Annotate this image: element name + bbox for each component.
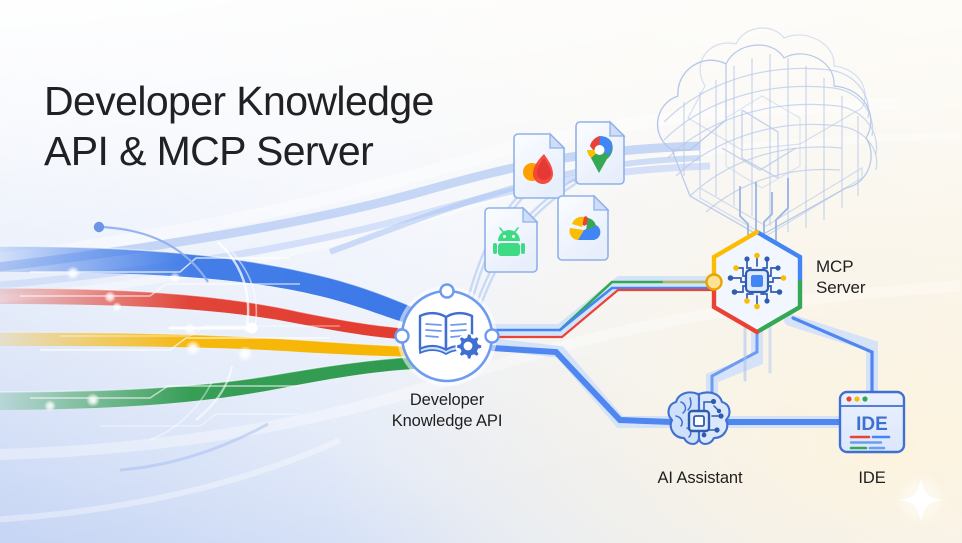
doc-card-google-cloud[interactable] <box>558 196 608 260</box>
label-ide: IDE <box>842 468 902 489</box>
label-developer-knowledge-api: Developer Knowledge API <box>372 390 522 431</box>
page-title: Developer Knowledge API & MCP Server <box>44 76 434 176</box>
illustration-canvas: IDE Developer Knowledge API & MCP Server… <box>0 0 962 543</box>
hex-port-left <box>707 275 722 290</box>
label-mcp-server: MCP Server <box>816 256 865 299</box>
node-ide[interactable]: IDE <box>840 392 904 452</box>
doc-card-android[interactable] <box>485 208 537 272</box>
four-point-sparkle-icon <box>895 474 947 526</box>
label-ai-assistant: AI Assistant <box>640 468 760 489</box>
window-controls <box>846 396 867 401</box>
brain-circuit-icon <box>669 392 730 444</box>
node-port-left <box>396 330 409 343</box>
doc-card-firebase[interactable] <box>514 134 564 198</box>
doc-card-google-maps[interactable] <box>576 122 624 184</box>
ide-screen-text: IDE <box>856 414 888 435</box>
node-port-right <box>486 330 499 343</box>
node-port-top <box>441 285 454 298</box>
node-ai-assistant[interactable] <box>669 392 730 444</box>
